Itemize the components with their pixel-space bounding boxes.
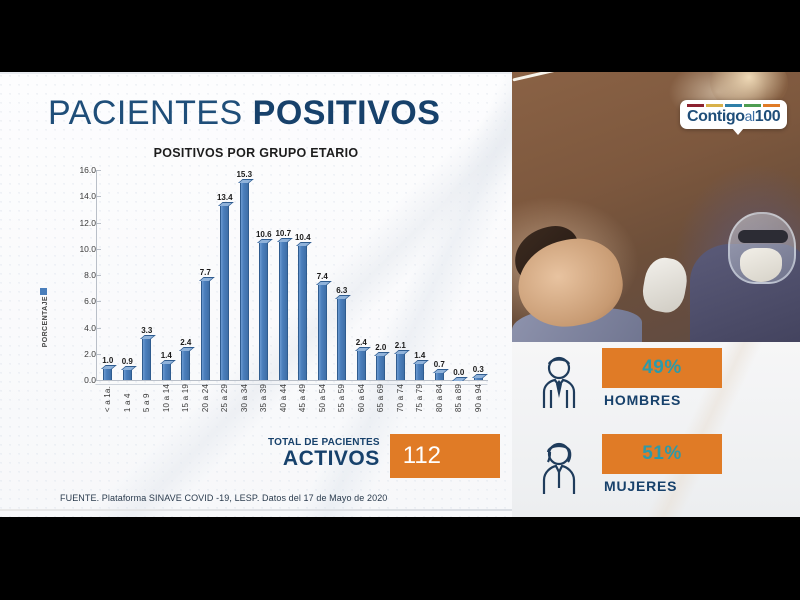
x-axis-tick-slot: 5 a 9	[137, 384, 157, 412]
x-axis-tick: 40 a 44	[279, 384, 288, 412]
bar[interactable]	[337, 297, 346, 380]
y-axis-tick: 16.0	[79, 165, 96, 175]
bar-slot[interactable]: 0.0	[449, 170, 469, 380]
source-note: FUENTE. Plataforma SINAVE COVID -19, LES…	[60, 493, 387, 503]
x-axis-tick-slot: 40 a 44	[274, 384, 294, 412]
swab-stick	[512, 72, 569, 81]
bars-container: 1.00.93.31.42.47.713.415.310.610.710.47.…	[98, 170, 488, 380]
x-axis-tick-slot: 90 a 94	[469, 384, 489, 412]
bar-value-label: 2.0	[375, 343, 386, 352]
x-axis-tick-slot: 45 a 49	[293, 384, 313, 412]
presentation-slide: PACIENTES POSITIVOS POSITIVOS POR GRUPO …	[0, 72, 800, 517]
face-mask-icon	[740, 248, 782, 282]
x-axis-tick: 15 a 19	[181, 384, 190, 412]
x-axis-tick: 5 a 9	[142, 384, 151, 412]
bar[interactable]	[181, 349, 190, 381]
y-axis-ticks: 0.02.04.06.08.010.012.014.016.0	[60, 170, 96, 380]
bar[interactable]	[240, 181, 249, 380]
x-axis-tick-slot: 20 a 24	[196, 384, 216, 412]
bar-value-label: 13.4	[217, 193, 233, 202]
page-title-bold: POSITIVOS	[253, 94, 441, 132]
x-axis-tick: 75 a 79	[415, 384, 424, 412]
logo-color-bar	[706, 104, 723, 107]
y-axis-tick: 0.0	[84, 375, 96, 385]
legend-marker-icon	[40, 288, 47, 295]
hombres-label: HOMBRES	[604, 392, 681, 408]
mujeres-percent: 51%	[642, 443, 682, 465]
x-axis-tick-slot: 75 a 79	[410, 384, 430, 412]
bar-slot[interactable]: 2.4	[352, 170, 372, 380]
bar[interactable]	[435, 371, 444, 380]
x-axis-tick-slot: 50 a 54	[313, 384, 333, 412]
x-axis-tick-slot: 30 a 34	[235, 384, 255, 412]
bar[interactable]	[318, 283, 327, 380]
x-axis-tick-slot: 70 a 74	[391, 384, 411, 412]
page-title-light: PACIENTES	[48, 94, 253, 132]
bar[interactable]	[123, 368, 132, 380]
y-axis-title: PORCENTAJE	[42, 296, 49, 347]
bar[interactable]	[454, 379, 463, 380]
contigo-al-100-logo: Contigoal100	[680, 100, 787, 129]
x-axis-tick-slot: 85 a 89	[449, 384, 469, 412]
mujeres-stat-box: 51%	[602, 434, 722, 474]
y-axis-tick: 6.0	[84, 296, 96, 306]
chart-panel: PACIENTES POSITIVOS POSITIVOS POR GRUPO …	[0, 72, 512, 517]
total-value-box: 112	[390, 434, 500, 478]
total-text: TOTAL DE PACIENTES ACTIVOS	[268, 434, 390, 478]
x-axis-tick: 25 a 29	[220, 384, 229, 412]
bar-slot[interactable]: 1.0	[98, 170, 118, 380]
page-title: PACIENTES POSITIVOS	[48, 94, 440, 133]
bar-slot[interactable]: 0.9	[118, 170, 138, 380]
bar-slot[interactable]: 1.4	[157, 170, 177, 380]
bar-value-label: 6.3	[336, 286, 347, 295]
bar-slot[interactable]: 15.3	[235, 170, 255, 380]
mujeres-label: MUJERES	[604, 478, 677, 494]
bar[interactable]	[162, 362, 171, 380]
glove-icon	[640, 255, 691, 315]
x-axis-ticks: < a 1a.1 a 45 a 910 a 1415 a 1920 a 2425…	[98, 384, 488, 412]
hombres-stat-box: 49%	[602, 348, 722, 388]
bar-value-label: 10.4	[295, 233, 311, 242]
bar[interactable]	[396, 352, 405, 380]
chart-title: POSITIVOS POR GRUPO ETARIO	[0, 146, 512, 160]
bar-value-label: 0.3	[473, 365, 484, 374]
logo-color-bar	[763, 104, 780, 107]
bar[interactable]	[259, 241, 268, 380]
bar[interactable]	[415, 362, 424, 380]
logo-brand-mid: al	[745, 108, 755, 124]
x-axis-tick: 45 a 49	[298, 384, 307, 412]
y-axis-tick: 14.0	[79, 191, 96, 201]
bar[interactable]	[474, 376, 483, 380]
bar-slot[interactable]: 0.7	[430, 170, 450, 380]
x-axis-tick-slot: 10 a 14	[157, 384, 177, 412]
bar-slot[interactable]: 13.4	[215, 170, 235, 380]
bar-value-label: 7.7	[200, 268, 211, 277]
bar[interactable]	[376, 354, 385, 380]
x-axis-tick: 80 a 84	[435, 384, 444, 412]
bar[interactable]	[357, 349, 366, 381]
bar[interactable]	[103, 367, 112, 380]
y-axis-tick: 8.0	[84, 270, 96, 280]
bar-value-label: 7.4	[317, 272, 328, 281]
logo-brand: Contigo	[687, 108, 745, 125]
total-label-big: ACTIVOS	[268, 448, 380, 470]
bar-slot[interactable]: 2.1	[391, 170, 411, 380]
x-axis-tick: 50 a 54	[318, 384, 327, 412]
total-value: 112	[403, 442, 441, 470]
bar-slot[interactable]: 3.3	[137, 170, 157, 380]
y-axis-tick: 4.0	[84, 323, 96, 333]
bar-slot[interactable]: 10.4	[293, 170, 313, 380]
total-active-patients: TOTAL DE PACIENTES ACTIVOS 112	[268, 434, 500, 478]
bar-slot[interactable]: 10.7	[274, 170, 294, 380]
x-axis-tick-slot: 80 a 84	[430, 384, 450, 412]
bar-value-label: 1.4	[414, 351, 425, 360]
gender-row-mujeres: 51% MUJERES	[512, 430, 800, 516]
man-icon	[530, 352, 588, 410]
logo-color-bar	[687, 104, 704, 107]
bar-value-label: 10.6	[256, 230, 272, 239]
bar-value-label: 10.7	[275, 229, 291, 238]
bar-slot[interactable]: 6.3	[332, 170, 352, 380]
bar-value-label: 3.3	[141, 326, 152, 335]
x-axis-tick-slot: 1 a 4	[118, 384, 138, 412]
x-axis-tick-slot: 65 a 69	[371, 384, 391, 412]
x-axis-line	[96, 380, 488, 381]
y-axis-tick: 12.0	[79, 218, 96, 228]
x-axis-tick-slot: 55 a 59	[332, 384, 352, 412]
x-axis-tick: 10 a 14	[162, 384, 171, 412]
bar-value-label: 0.7	[434, 360, 445, 369]
x-axis-tick: 70 a 74	[396, 384, 405, 412]
bar-value-label: 2.4	[356, 338, 367, 347]
bar[interactable]	[201, 279, 210, 380]
bar[interactable]	[142, 337, 151, 380]
covid-swab-test-photo: Contigoal100	[512, 72, 800, 342]
x-axis-tick-slot: < a 1a.	[98, 384, 118, 412]
bar-value-label: 2.4	[180, 338, 191, 347]
bar-value-label: 15.3	[236, 170, 252, 179]
bar-slot[interactable]: 2.4	[176, 170, 196, 380]
bar[interactable]	[220, 204, 229, 380]
x-axis-tick-slot: 60 a 64	[352, 384, 372, 412]
media-panel: Contigoal100 49%	[512, 72, 800, 517]
x-axis-tick: 65 a 69	[376, 384, 385, 412]
bar-slot[interactable]: 10.6	[254, 170, 274, 380]
x-axis-tick: 90 a 94	[474, 384, 483, 412]
goggles-icon	[738, 230, 788, 243]
bar-value-label: 1.4	[161, 351, 172, 360]
x-axis-tick: 60 a 64	[357, 384, 366, 412]
bar-slot[interactable]: 1.4	[410, 170, 430, 380]
bar-value-label: 0.0	[453, 368, 464, 377]
bar-slot[interactable]: 7.7	[196, 170, 216, 380]
x-axis-tick-slot: 15 a 19	[176, 384, 196, 412]
logo-color-bar	[744, 104, 761, 107]
y-axis-tick: 2.0	[84, 349, 96, 359]
bar-value-label: 1.0	[102, 356, 113, 365]
footer-divider	[0, 509, 512, 511]
x-axis-tick: 20 a 24	[201, 384, 210, 412]
x-axis-tick-slot: 35 a 39	[254, 384, 274, 412]
bar-slot[interactable]: 2.0	[371, 170, 391, 380]
bar-slot[interactable]: 7.4	[313, 170, 333, 380]
logo-brand-num: 100	[755, 108, 781, 125]
video-frame: PACIENTES POSITIVOS POSITIVOS POR GRUPO …	[0, 0, 800, 600]
bar-chart: PORCENTAJE 0.02.04.06.08.010.012.014.016…	[34, 170, 496, 470]
logo-color-bars	[687, 104, 780, 107]
x-axis-tick: 85 a 89	[454, 384, 463, 412]
x-axis-tick-slot: 25 a 29	[215, 384, 235, 412]
y-axis-tick: 10.0	[79, 244, 96, 254]
x-axis-tick: 55 a 59	[337, 384, 346, 412]
logo-color-bar	[725, 104, 742, 107]
gender-row-hombres: 49% HOMBRES	[512, 344, 800, 430]
x-axis-tick: 30 a 34	[240, 384, 249, 412]
logo-text: Contigoal100	[687, 109, 780, 125]
bar[interactable]	[298, 244, 307, 381]
x-axis-tick: < a 1a.	[103, 384, 112, 412]
bar-value-label: 0.9	[122, 357, 133, 366]
woman-icon	[530, 438, 588, 496]
gender-breakdown: 49% HOMBRES 51%	[512, 342, 800, 517]
hombres-percent: 49%	[642, 357, 682, 379]
x-axis-tick: 1 a 4	[123, 384, 132, 412]
bar-slot[interactable]: 0.3	[469, 170, 489, 380]
bar[interactable]	[279, 240, 288, 380]
y-axis-line	[96, 170, 97, 381]
x-axis-tick: 35 a 39	[259, 384, 268, 412]
